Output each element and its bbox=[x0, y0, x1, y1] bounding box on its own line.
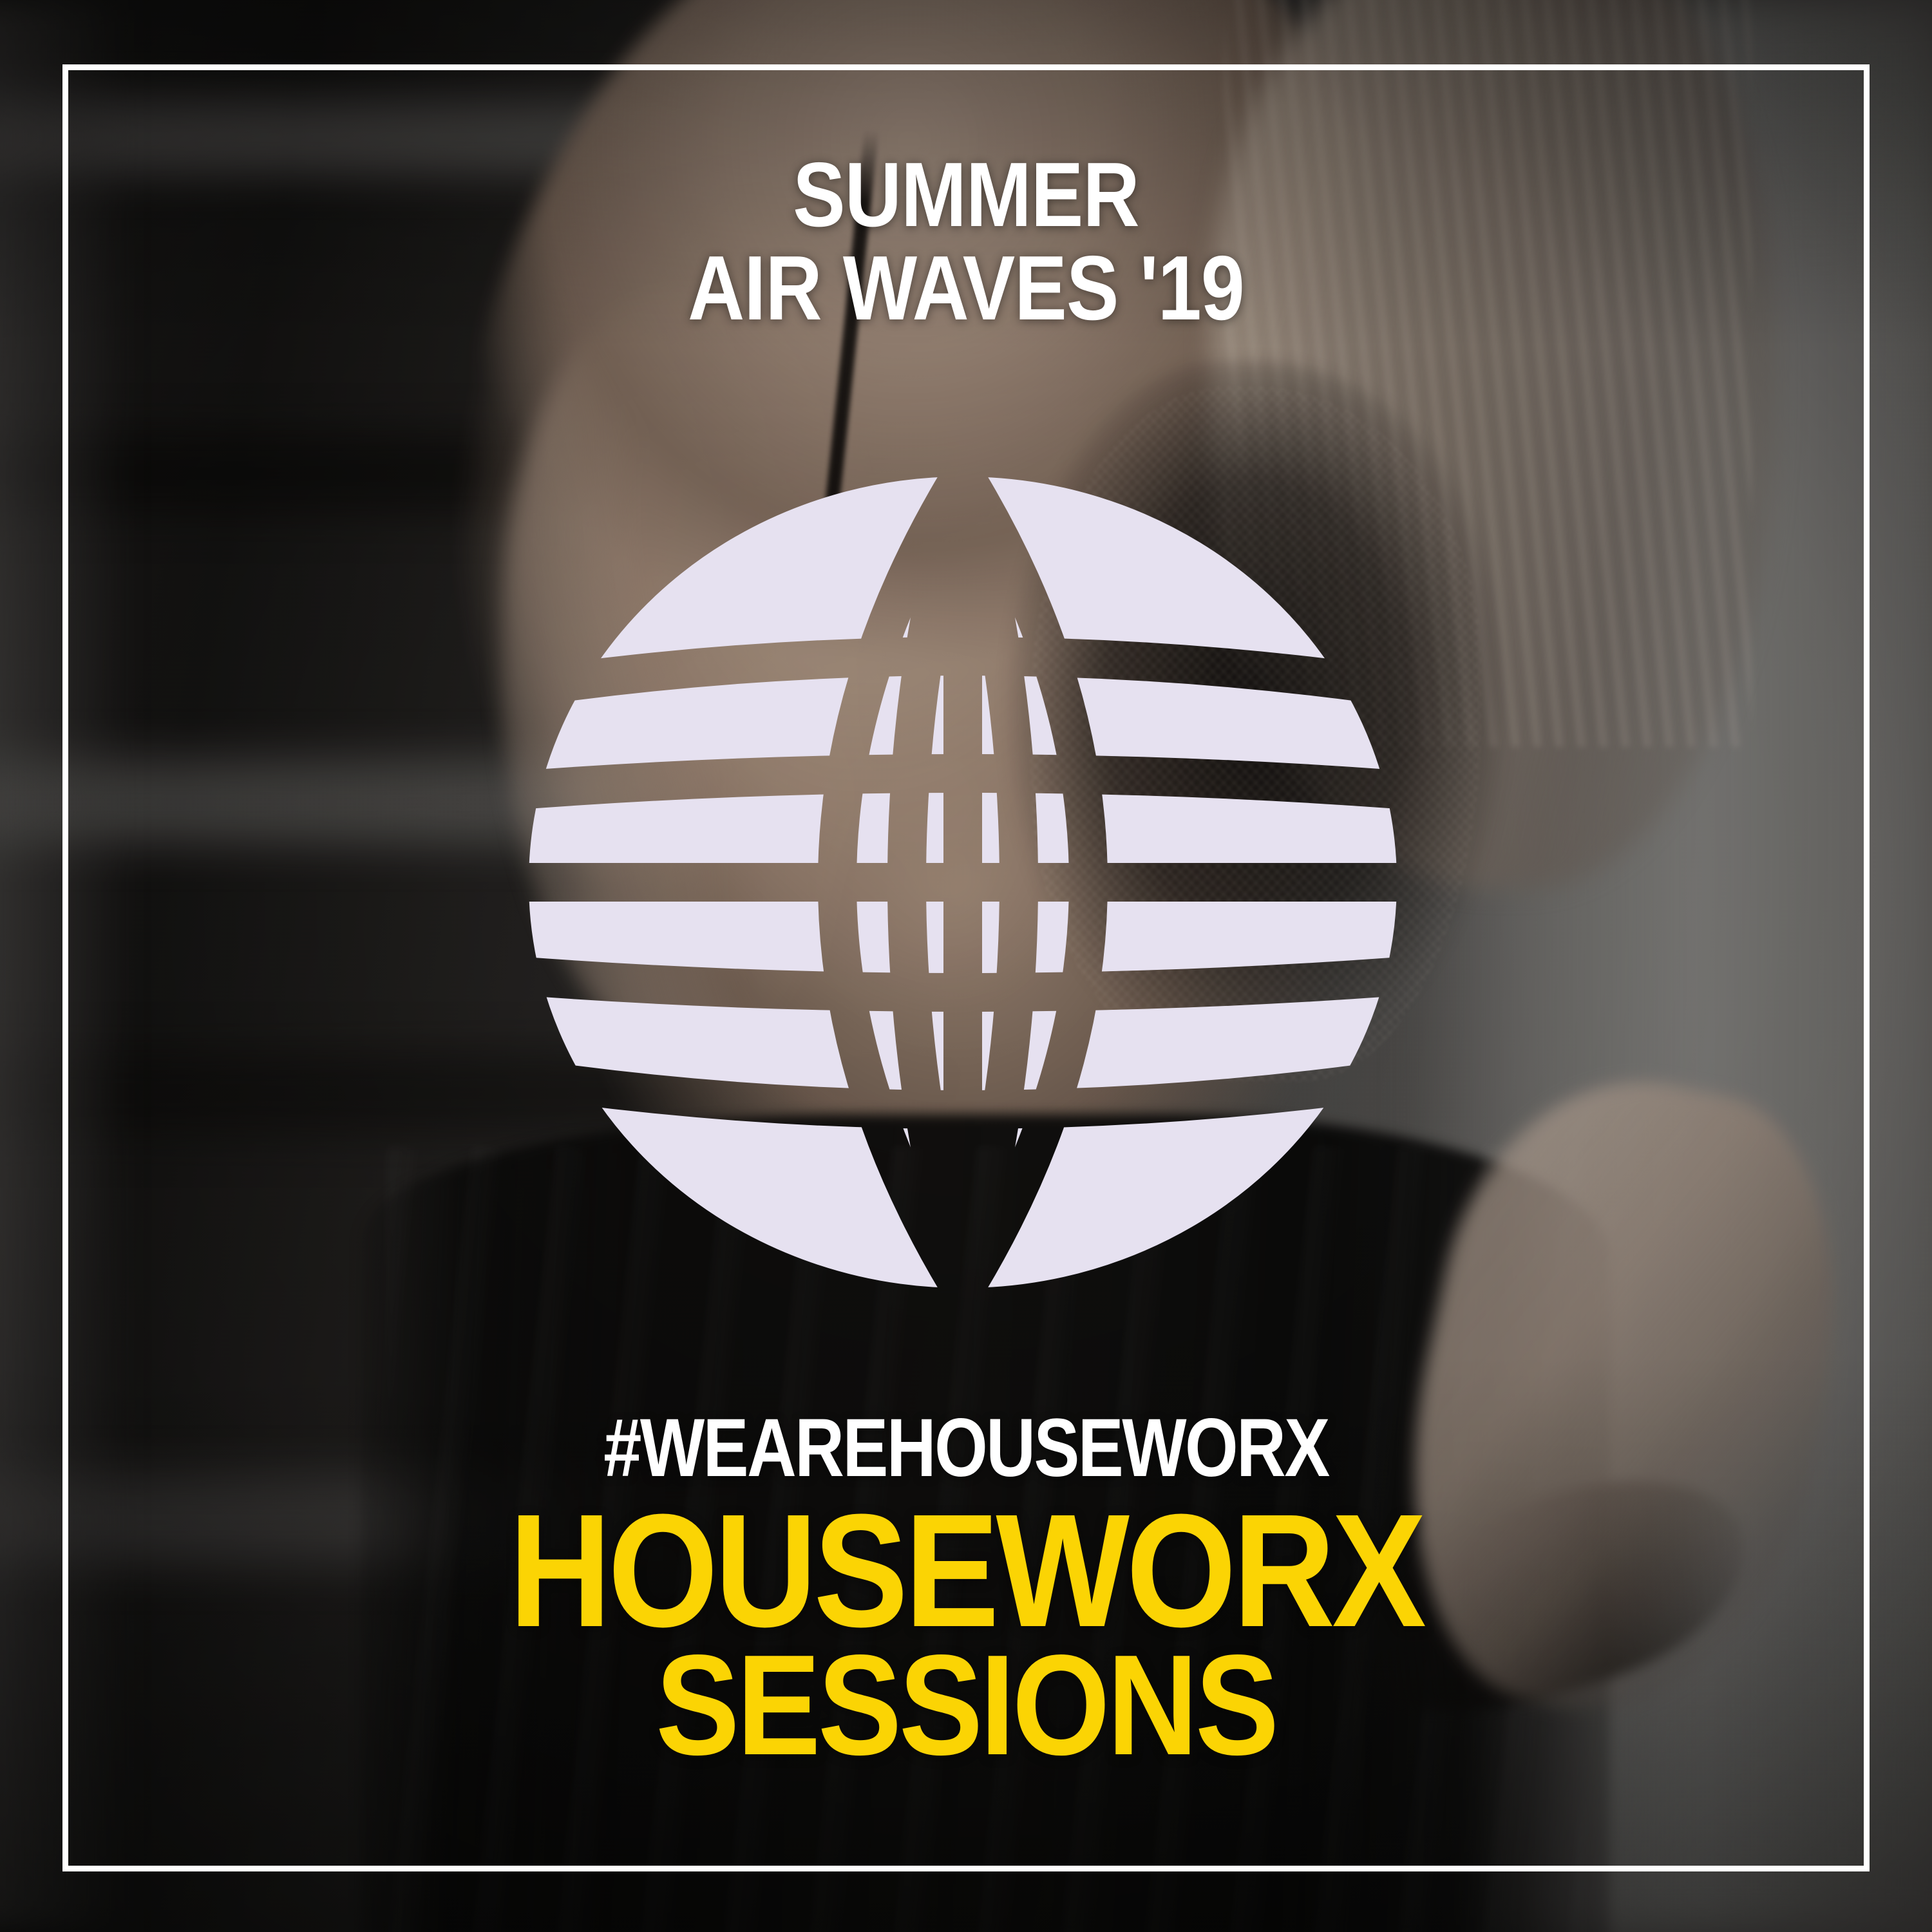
album-cover: SUMMER AIR WAVES '19 #WEAREHOUSEWORX HOU… bbox=[0, 0, 1932, 1932]
headline-line-1: SUMMER bbox=[135, 152, 1797, 239]
brand-subtitle: SESSIONS bbox=[116, 1640, 1816, 1771]
footer-lockup: #WEAREHOUSEWORX HOUSEWORX SESSIONS bbox=[0, 1410, 1932, 1771]
brand-title: HOUSEWORX bbox=[116, 1497, 1816, 1645]
globe-grid-icon bbox=[518, 464, 1407, 1301]
headline: SUMMER AIR WAVES '19 bbox=[0, 152, 1932, 332]
headline-line-2: AIR WAVES '19 bbox=[135, 245, 1797, 332]
hashtag-label: #WEAREHOUSEWORX bbox=[164, 1410, 1768, 1486]
